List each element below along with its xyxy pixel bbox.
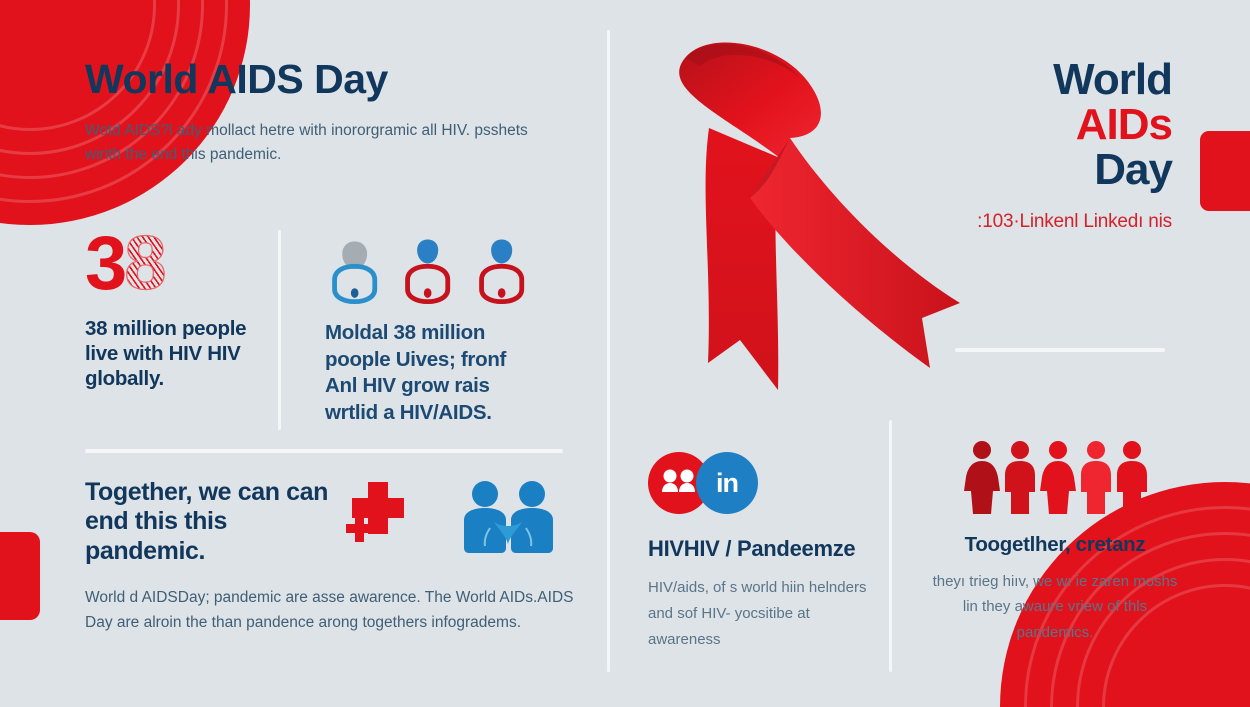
- two-people-icon: [464, 481, 553, 553]
- person-icon-red-2: [472, 236, 531, 308]
- page-title: World AIDS Day: [85, 58, 565, 101]
- right-lower-heading: Toogetlher, cretanz: [930, 533, 1180, 558]
- digit-three: 3: [85, 228, 124, 300]
- lower-body-text: World d AIDSDay; pandemic are asse aware…: [85, 585, 575, 636]
- right-title-line2: AIDs: [957, 103, 1172, 148]
- right-column: World AIDs Day :103·Linkenl Linkedı nis: [957, 58, 1172, 234]
- right-subtitle: :103·Linkenl Linkedı nis: [957, 209, 1172, 234]
- person-icon-gray: [325, 236, 384, 308]
- people-group-red-icon: [930, 440, 1180, 515]
- divider-vertical-center: [607, 30, 610, 672]
- middle-heading: HIVHIV / Pandeemze: [648, 536, 876, 562]
- badge-icon-row: in: [648, 452, 876, 514]
- person-icon-row: [325, 228, 531, 308]
- lower-heading: Together, we can can end this this pande…: [85, 478, 330, 566]
- left-lower-icons: [340, 476, 570, 566]
- stat-secondary: Moldal 38 million poople Uives; fronf An…: [281, 228, 531, 427]
- page-subtitle: Wotd AIDS?l ady mollact hetre with inoro…: [85, 119, 565, 166]
- linkedin-label: in: [716, 468, 738, 499]
- divider-horizontal-right: [955, 348, 1165, 352]
- digit-eight: 8: [124, 228, 163, 300]
- linkedin-icon[interactable]: in: [696, 452, 758, 514]
- right-lower-block: Toogetlher, cretanz theyı trieg hiıv, we…: [930, 440, 1180, 646]
- middle-body-text: HIV/aids, of s world hiin helnders and s…: [648, 575, 876, 652]
- statistics-row: 3 8 38 million people live with HIV HIV …: [85, 228, 575, 427]
- right-title-line3: Day: [957, 148, 1172, 193]
- middle-column: in HIVHIV / Pandeemze HIV/aids, of s wor…: [648, 452, 876, 653]
- left-column: World AIDS Day Wotd AIDS?l ady mollact h…: [85, 58, 565, 166]
- red-aids-ribbon-icon: [630, 18, 970, 418]
- stat-primary: 3 8 38 million people live with HIV HIV …: [85, 228, 281, 427]
- person-icon-red-1: [398, 236, 457, 308]
- infographic-canvas: World AIDS Day Wotd AIDS?l ady mollact h…: [0, 0, 1250, 707]
- right-lower-body: theyı trieg hiıv, we wı ie zaren moshs l…: [930, 569, 1180, 646]
- red-tab-right: [1200, 131, 1250, 211]
- stat-secondary-label: Moldal 38 million poople Uives; fronf An…: [325, 320, 531, 427]
- big-number-38: 3 8: [85, 228, 281, 306]
- stat-primary-label: 38 million people live with HIV HIV glob…: [85, 316, 281, 392]
- divider-horizontal-left: [85, 449, 563, 453]
- right-title-line1: World: [957, 58, 1172, 103]
- divider-vertical-right: [889, 420, 892, 672]
- red-tab-left: [0, 532, 40, 620]
